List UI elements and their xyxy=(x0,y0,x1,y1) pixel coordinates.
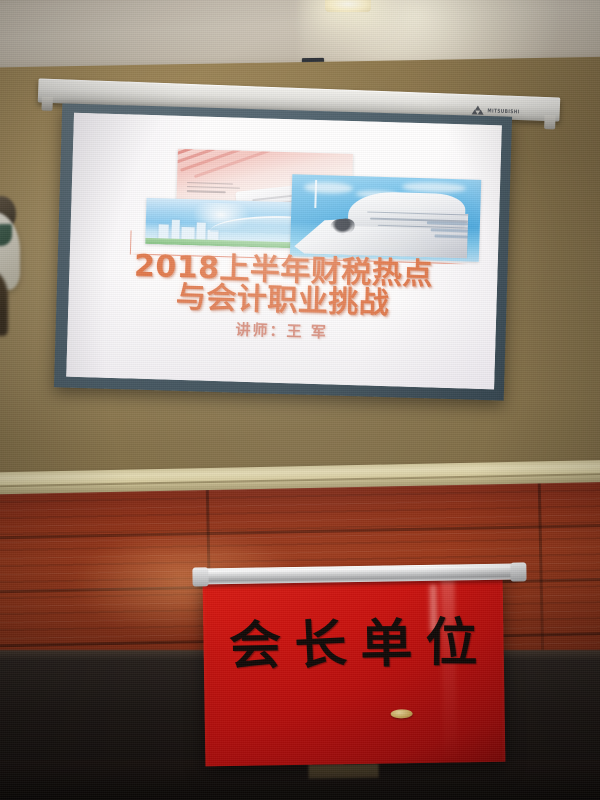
partial-attendee-left-edge xyxy=(0,196,38,336)
gold-oval-emblem xyxy=(391,709,413,718)
projection-screen-frame: 2018上半年财税热点 与会计职业挑战 讲师：王 军 xyxy=(54,103,512,400)
housing-end-cap-right xyxy=(544,115,556,129)
banner-char-1: 会 xyxy=(229,620,282,673)
photo-scene: MITSUBISHI xyxy=(0,0,600,800)
housing-end-cap-left xyxy=(41,97,53,111)
banner-char-2: 长 xyxy=(293,618,348,673)
banner-char-4: 位 xyxy=(426,617,479,670)
cruise-ship-photo xyxy=(290,175,481,262)
chairman-unit-banner: 会 长 单 位 xyxy=(196,563,521,780)
mitsubishi-three-diamond-icon xyxy=(472,105,483,114)
housing-brand-label: MITSUBISHI xyxy=(487,107,520,114)
banner-char-3: 单 xyxy=(360,618,413,671)
presentation-slide: 2018上半年财税热点 与会计职业挑战 讲师：王 军 xyxy=(66,113,502,390)
banner-text: 会 长 单 位 xyxy=(203,617,504,674)
housing-brand: MITSUBISHI xyxy=(472,105,520,116)
rail-end-cap-left xyxy=(192,567,208,586)
slide-text-block: 2018上半年财税热点 与会计职业挑战 讲师：王 军 xyxy=(67,250,497,348)
recessed-ceiling-light xyxy=(325,0,371,12)
rail-end-cap-right xyxy=(510,562,526,581)
banner-cloth: 会 长 单 位 xyxy=(203,576,506,767)
projection-screen-surface: 2018上半年财税热点 与会计职业挑战 讲师：王 军 xyxy=(66,113,502,390)
banner-stand xyxy=(309,764,379,779)
